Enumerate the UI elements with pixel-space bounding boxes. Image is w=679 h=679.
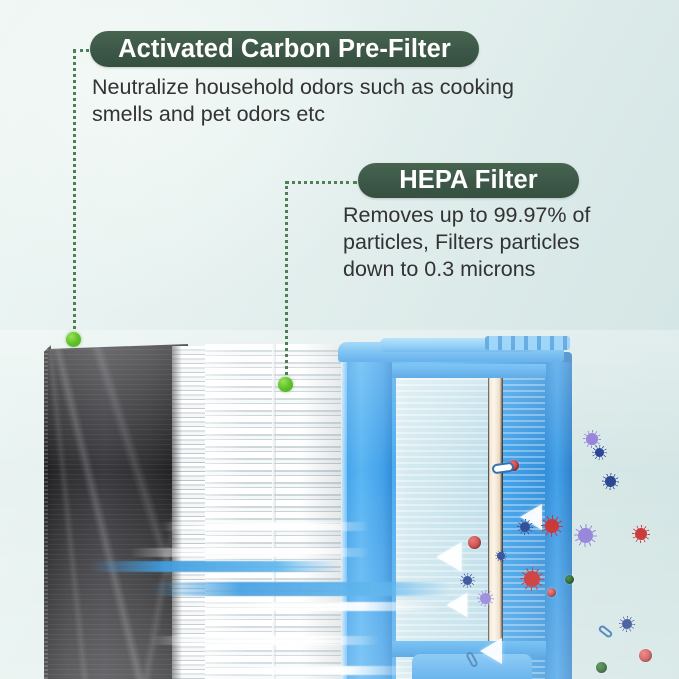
- frame-left-post: [344, 362, 392, 679]
- particle-virus-red-spiky: [635, 528, 647, 540]
- particle-spore-green: [596, 662, 607, 673]
- frame-left-highlight: [342, 360, 347, 679]
- particle-virus-red: [547, 588, 556, 597]
- particle-virus-red-spiky: [545, 519, 559, 533]
- hepa-seam-highlight: [272, 344, 276, 679]
- leader-segment-vertical: [285, 181, 288, 381]
- particle-bacteria-navy: [497, 552, 505, 560]
- infographic-canvas: Activated Carbon Pre-Filter Neutralize h…: [0, 0, 679, 679]
- particle-pollen-purple: [586, 433, 598, 445]
- particle-virus-red: [639, 649, 652, 662]
- particle-bacteria-navy: [595, 448, 604, 457]
- particle-pollen-purple: [480, 593, 491, 604]
- particle-spore-green: [565, 575, 574, 584]
- description-hepa-filter: Removes up to 99.97% of particles, Filte…: [343, 202, 593, 283]
- frame-snap-tabs: [485, 336, 570, 350]
- label-hepa-filter: HEPA Filter: [358, 163, 579, 198]
- leader-segment-vertical: [73, 49, 76, 337]
- description-activated-carbon-pre-filter: Neutralize household odors such as cooki…: [92, 74, 532, 128]
- carbon-pre-filter-layer: [48, 344, 188, 679]
- particle-bacillus-blue: [597, 624, 613, 639]
- leader-segment-horizontal: [285, 181, 357, 184]
- filter-assembly: [0, 336, 679, 679]
- leader-end-dot-icon: [278, 377, 293, 392]
- particle-bacteria-navy: [520, 522, 530, 532]
- particle-pollen-purple: [578, 528, 593, 543]
- frame-inner-top-rail: [392, 364, 546, 378]
- particle-virus-red-spiky: [524, 571, 540, 587]
- frame-media-strip: [488, 378, 503, 679]
- particle-bacteria-navy: [622, 619, 632, 629]
- plastic-frame: [330, 336, 582, 679]
- particle-bacteria-navy: [463, 576, 472, 585]
- particle-virus-red: [468, 536, 481, 549]
- particle-bacteria-navy: [605, 476, 616, 487]
- leader-end-dot-icon: [66, 332, 81, 347]
- label-activated-carbon-pre-filter: Activated Carbon Pre-Filter: [90, 31, 479, 67]
